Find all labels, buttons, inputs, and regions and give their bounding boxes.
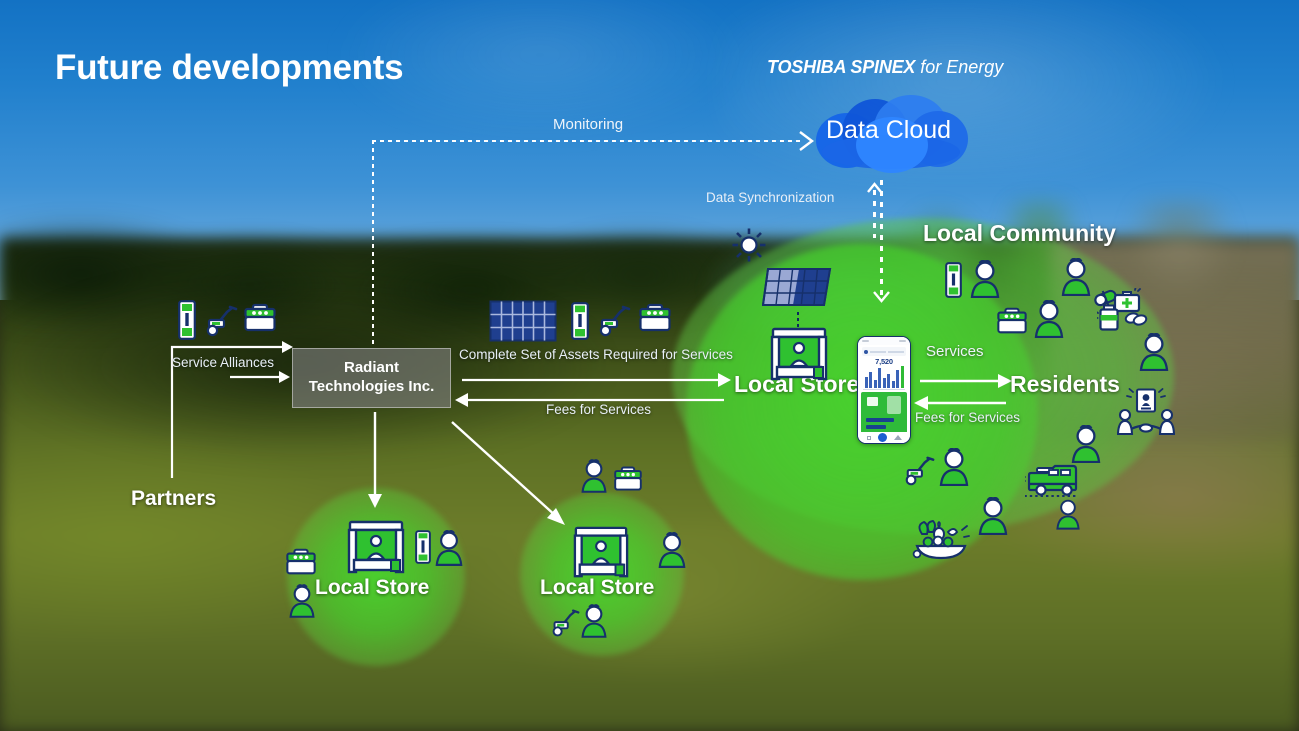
phone-value: 7,520 xyxy=(858,357,910,366)
cooler-box-icon-left-store xyxy=(285,546,317,578)
phone-navbar[interactable] xyxy=(858,432,910,443)
brand-name: TOSHIBA SPINEX xyxy=(767,57,915,77)
store-icon-mid xyxy=(571,524,631,582)
person-icon-left-store-2 xyxy=(288,584,316,618)
store-icon xyxy=(768,325,830,385)
person-icon-mid-store xyxy=(657,532,687,568)
local-community-label: Local Community xyxy=(923,220,1116,247)
monitoring-line-horizontal xyxy=(372,140,802,142)
partners-label: Partners xyxy=(131,487,216,511)
vegetable-basket-icon xyxy=(912,520,970,562)
phone-statusbar xyxy=(858,337,910,345)
store-icon-left xyxy=(345,518,407,578)
portable-battery-icon-left-store xyxy=(415,530,431,564)
person-icon-left-store xyxy=(434,530,464,566)
person-icon-3 xyxy=(1033,300,1065,338)
data-synchronization-label: Data Synchronization xyxy=(706,190,834,205)
residents-label: Residents xyxy=(1010,371,1120,398)
data-sync-line-up xyxy=(873,190,876,238)
smartphone-app-icon[interactable]: 7,520 xyxy=(857,336,911,444)
brand-logo: TOSHIBA SPINEX for Energy xyxy=(767,57,1003,78)
person-icon-7 xyxy=(977,497,1009,535)
brand-suffix: for Energy xyxy=(915,57,1003,77)
phone-header-card xyxy=(862,347,906,356)
push-mower-icon-assets xyxy=(598,304,632,338)
person-icon-5 xyxy=(1070,425,1102,463)
local-store-left-label: Local Store xyxy=(315,576,429,600)
service-alliances-label: Service Alliances xyxy=(172,355,274,370)
fees-left-label: Fees for Services xyxy=(546,402,651,417)
cooler-box-icon-resident xyxy=(996,305,1028,337)
person-icon-6 xyxy=(938,448,970,486)
phone-promo-banner xyxy=(861,392,907,435)
portable-battery-icon xyxy=(178,300,196,340)
radiant-technologies-node[interactable]: RadiantTechnologies Inc. xyxy=(292,348,451,408)
radiant-label: RadiantTechnologies Inc. xyxy=(309,359,435,397)
data-cloud-label: Data Cloud xyxy=(826,116,951,145)
cooler-box-icon-mid-store xyxy=(613,464,643,494)
person-icon xyxy=(969,260,1001,298)
radiant-label-line1: Radiant xyxy=(344,359,399,376)
portable-battery-icon-assets xyxy=(571,302,589,340)
page-title: Future developments xyxy=(55,48,403,88)
person-icon-8 xyxy=(1055,498,1081,530)
assets-label: Complete Set of Assets Required for Serv… xyxy=(459,347,733,362)
cooler-box-icon-assets xyxy=(638,301,672,335)
push-mower-icon-mid-store xyxy=(550,608,582,638)
services-label: Services xyxy=(926,343,984,360)
push-mower-icon-resident xyxy=(903,455,937,487)
medicine-bottle-icon xyxy=(1097,304,1121,332)
person-icon-2 xyxy=(1060,258,1092,296)
handshake-certificate-icon xyxy=(1117,388,1175,436)
sun-icon xyxy=(731,227,767,263)
slide-canvas: Future developments TOSHIBA SPINEX for E… xyxy=(0,0,1299,731)
phone-bar-chart xyxy=(858,366,910,388)
cooler-box-icon xyxy=(243,301,277,335)
person-icon-mid-store-2 xyxy=(580,459,608,493)
fees-right-label: Fees for Services xyxy=(915,410,1020,425)
tablets-icon xyxy=(1124,309,1148,327)
person-icon-mid-store-3 xyxy=(580,604,608,638)
radiant-label-line2: Technologies Inc. xyxy=(309,378,435,395)
person-icon-4 xyxy=(1138,333,1170,371)
background-cloud-right xyxy=(720,0,1240,180)
push-mower-icon xyxy=(205,304,239,338)
electric-van-icon xyxy=(1025,462,1087,502)
monitoring-line-vertical xyxy=(372,140,374,348)
data-sync-line-down xyxy=(880,180,883,298)
solar-panel-icon xyxy=(762,265,832,311)
solar-panel-icon-assets xyxy=(489,300,557,342)
portable-battery-icon-resident xyxy=(945,262,962,298)
phone-chart-axis xyxy=(863,389,905,390)
monitoring-label: Monitoring xyxy=(553,116,623,133)
